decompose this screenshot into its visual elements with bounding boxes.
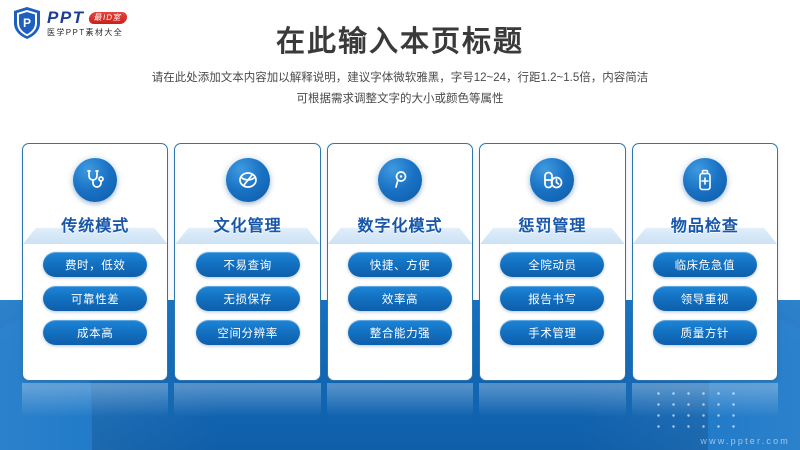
card-reflection: [174, 383, 320, 417]
slide-canvas: www.ppter.com P PPT 最ID室 医学PPT素材大全 在此输入本…: [0, 0, 800, 450]
card-item-inspection[interactable]: 物品检查 临床危急值 领导重视 质量方针: [632, 143, 778, 381]
card-title-band: 传统模式: [23, 210, 167, 244]
medicine-bottle-icon: [683, 158, 727, 202]
pill-item[interactable]: 可靠性差: [43, 286, 147, 311]
pill-item[interactable]: 领导重视: [653, 286, 757, 311]
card-reflection: [22, 383, 168, 417]
card-title-band: 物品检查: [633, 210, 777, 244]
pill-item[interactable]: 费时，低效: [43, 252, 147, 277]
pill-item[interactable]: 空间分辨率: [196, 320, 300, 345]
icon-container: [683, 158, 727, 202]
pill-item[interactable]: 效率高: [348, 286, 452, 311]
card-reflection: [632, 383, 778, 417]
icon-container: [226, 158, 270, 202]
pill-item[interactable]: 整合能力强: [348, 320, 452, 345]
card-title-band: 数字化模式: [328, 210, 472, 244]
card-pill-list: 全院动员 报告书写 手术管理: [480, 252, 624, 345]
pill-item[interactable]: 全院动员: [500, 252, 604, 277]
search-pin-icon: [378, 158, 422, 202]
subtitle-line-2: 可根据需求调整文字的大小或颜色等属性: [0, 89, 800, 110]
card-title-band: 惩罚管理: [480, 210, 624, 244]
pill-item[interactable]: 报告书写: [500, 286, 604, 311]
card-pill-list: 临床危急值 领导重视 质量方针: [633, 252, 777, 345]
card-reflections: [22, 383, 778, 417]
card-title: 物品检查: [633, 212, 777, 236]
card-pill-list: 费时，低效 可靠性差 成本高: [23, 252, 167, 345]
stethoscope-icon: [73, 158, 117, 202]
pill-item[interactable]: 临床危急值: [653, 252, 757, 277]
icon-container: [530, 158, 574, 202]
card-digital-mode[interactable]: 数字化模式 快捷、方便 效率高 整合能力强: [327, 143, 473, 381]
subtitle-line-1: 请在此处添加文本内容加以解释说明，建议字体微软雅黑，字号12~24，行距1.2~…: [0, 68, 800, 89]
card-title: 惩罚管理: [480, 212, 624, 236]
tablet-pill-icon: [226, 158, 270, 202]
icon-container: [378, 158, 422, 202]
pill-item[interactable]: 不易查询: [196, 252, 300, 277]
icon-container: [73, 158, 117, 202]
card-traditional-mode[interactable]: 传统模式 费时，低效 可靠性差 成本高: [22, 143, 168, 381]
card-penalty-management[interactable]: 惩罚管理 全院动员 报告书写 手术管理: [479, 143, 625, 381]
card-title: 文化管理: [175, 212, 319, 236]
pill-item[interactable]: 质量方针: [653, 320, 757, 345]
pill-item[interactable]: 无损保存: [196, 286, 300, 311]
pill-item[interactable]: 成本高: [43, 320, 147, 345]
watermark-url: www.ppter.com: [700, 436, 790, 446]
pill-item[interactable]: 快捷、方便: [348, 252, 452, 277]
card-title-band: 文化管理: [175, 210, 319, 244]
pill-item[interactable]: 手术管理: [500, 320, 604, 345]
card-title: 数字化模式: [328, 212, 472, 236]
card-reflection: [479, 383, 625, 417]
page-title: 在此输入本页标题: [0, 18, 800, 60]
card-pill-list: 不易查询 无损保存 空间分辨率: [175, 252, 319, 345]
page-subtitle: 请在此处添加文本内容加以解释说明，建议字体微软雅黑，字号12~24，行距1.2~…: [0, 68, 800, 111]
card-title: 传统模式: [23, 212, 167, 236]
card-pill-list: 快捷、方便 效率高 整合能力强: [328, 252, 472, 345]
card-reflection: [327, 383, 473, 417]
card-row: 传统模式 费时，低效 可靠性差 成本高 文化管理: [22, 143, 778, 381]
card-culture-management[interactable]: 文化管理 不易查询 无损保存 空间分辨率: [174, 143, 320, 381]
